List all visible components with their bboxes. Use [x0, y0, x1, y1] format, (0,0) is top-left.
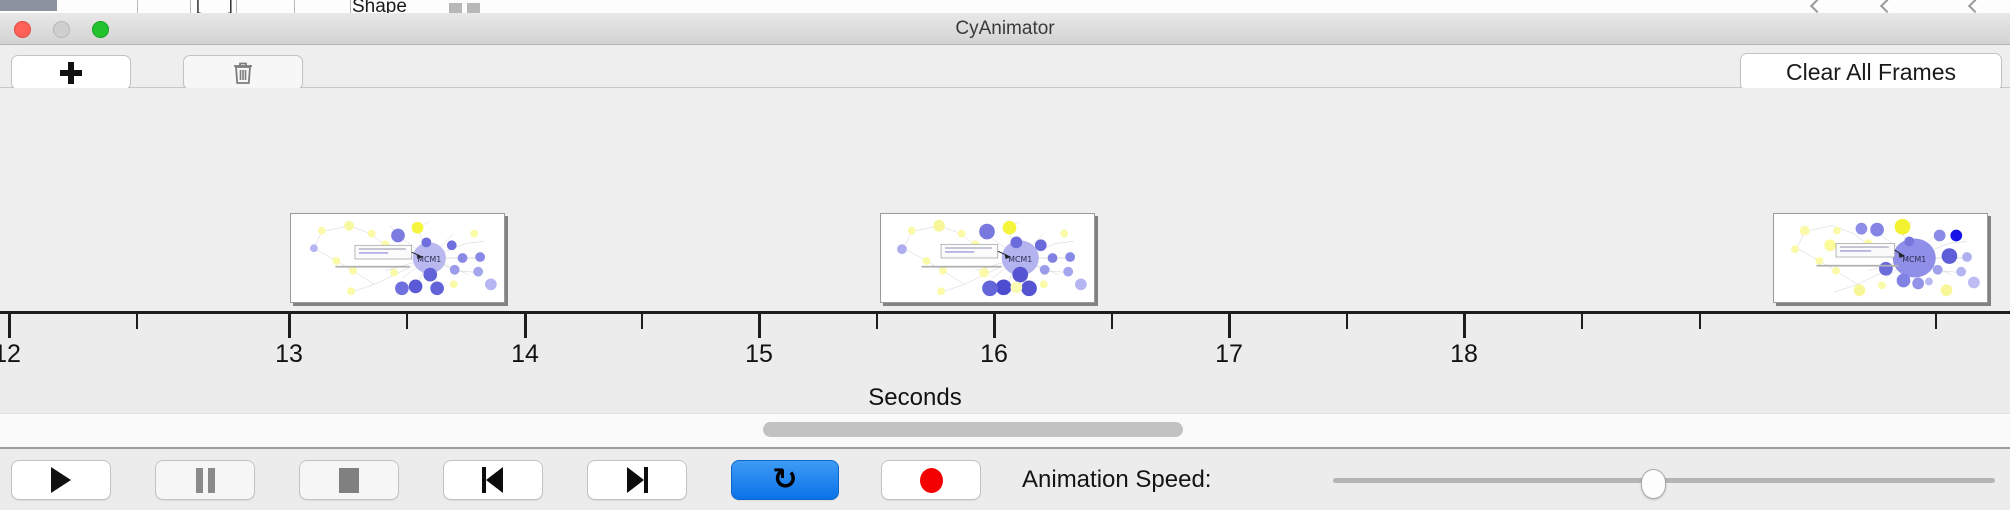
animation-speed-label: Animation Speed:: [1022, 460, 1211, 500]
timeline-frame-thumbnail[interactable]: MCM1: [290, 213, 505, 303]
ruler-tick: [406, 314, 408, 329]
plus-icon: [60, 62, 82, 84]
timeline-track[interactable]: MCM1: [0, 88, 2010, 311]
stop-icon: [339, 468, 359, 493]
background-shape-label: Shape: [352, 0, 407, 13]
background-segment: [138, 0, 191, 13]
trash-icon: [232, 61, 254, 85]
svg-text:MCM1: MCM1: [417, 255, 441, 264]
delete-frame-button[interactable]: [183, 55, 303, 90]
add-frame-button[interactable]: [11, 55, 131, 90]
ruler-tick: [1581, 314, 1583, 329]
ruler-label: 15: [745, 340, 773, 369]
background-segment: [237, 0, 295, 13]
network-graph-thumbnail: MCM1: [291, 214, 504, 302]
last-frame-button[interactable]: [587, 460, 687, 500]
playback-bar: ↻ Animation Speed:: [0, 451, 2010, 510]
ruler-label: 13: [275, 340, 303, 369]
ruler-tick: [1699, 314, 1701, 329]
pause-button[interactable]: [155, 460, 255, 500]
ruler-tick: [1228, 314, 1231, 338]
ruler-tick: [1346, 314, 1348, 329]
background-icon: [449, 3, 462, 13]
timeline-frame-thumbnail[interactable]: MCM1: [1773, 213, 1988, 303]
ruler-tick: [1111, 314, 1113, 329]
background-tab: [0, 0, 57, 11]
pause-icon: [196, 468, 215, 493]
play-button[interactable]: [11, 460, 111, 500]
ruler-tick: [136, 314, 138, 329]
frame-toolbar: Clear All Frames: [0, 45, 2010, 88]
ruler-tick: [8, 314, 11, 338]
loop-icon: ↻: [772, 465, 797, 495]
svg-text:MCM1: MCM1: [1008, 255, 1032, 264]
record-icon: [920, 468, 943, 493]
skip-to-end-icon: [626, 467, 648, 493]
chevron-icon: [1880, 0, 1894, 13]
ruler-tick: [641, 314, 643, 329]
svg-text:MCM1: MCM1: [1902, 255, 1926, 264]
ruler-tick: [993, 314, 996, 338]
bracket-glyph: ]: [228, 0, 233, 13]
skip-to-start-icon: [482, 467, 504, 493]
clear-all-frames-button[interactable]: Clear All Frames: [1740, 53, 2002, 91]
cyanimator-window: [ ] Shape CyAnimator Clear All F: [0, 0, 2010, 510]
title-bar: CyAnimator: [0, 13, 2010, 45]
network-graph-thumbnail: MCM1: [1774, 214, 1987, 302]
axis-title: Seconds: [0, 384, 1920, 412]
background-window-strip: [ ] Shape: [0, 0, 2010, 13]
ruler-tick: [876, 314, 878, 329]
timeline-ruler[interactable]: 12 13 14 15 16 17 18 Seconds: [0, 311, 2010, 413]
ruler-label: 12: [0, 340, 21, 369]
scrollbar-thumb[interactable]: [763, 422, 1183, 437]
ruler-tick: [524, 314, 527, 338]
chevron-icon: [1810, 0, 1824, 13]
ruler-label: 17: [1215, 340, 1243, 369]
record-button[interactable]: [881, 460, 981, 500]
ruler-tick: [1935, 314, 1937, 329]
stop-button[interactable]: [299, 460, 399, 500]
timeline-frame-thumbnail[interactable]: MCM1: [880, 213, 1095, 303]
horizontal-scrollbar[interactable]: [0, 413, 2010, 449]
ruler-label: 14: [511, 340, 539, 369]
animation-speed-slider[interactable]: [1333, 460, 1995, 500]
background-icon: [467, 3, 480, 13]
loop-toggle-button[interactable]: ↻: [731, 460, 839, 500]
first-frame-button[interactable]: [443, 460, 543, 500]
ruler-tick: [758, 314, 761, 338]
background-segment: [295, 0, 351, 13]
ruler-label: 18: [1450, 340, 1478, 369]
play-icon: [51, 467, 71, 493]
window-title: CyAnimator: [0, 13, 2010, 45]
chevron-icon: [1968, 0, 1982, 13]
slider-thumb[interactable]: [1641, 469, 1666, 499]
bracket-glyph: [: [196, 0, 201, 13]
ruler-tick: [1463, 314, 1466, 338]
ruler-tick: [288, 314, 291, 338]
ruler-label: 16: [980, 340, 1008, 369]
background-segment: [60, 0, 138, 13]
network-graph-thumbnail: MCM1: [881, 214, 1094, 302]
